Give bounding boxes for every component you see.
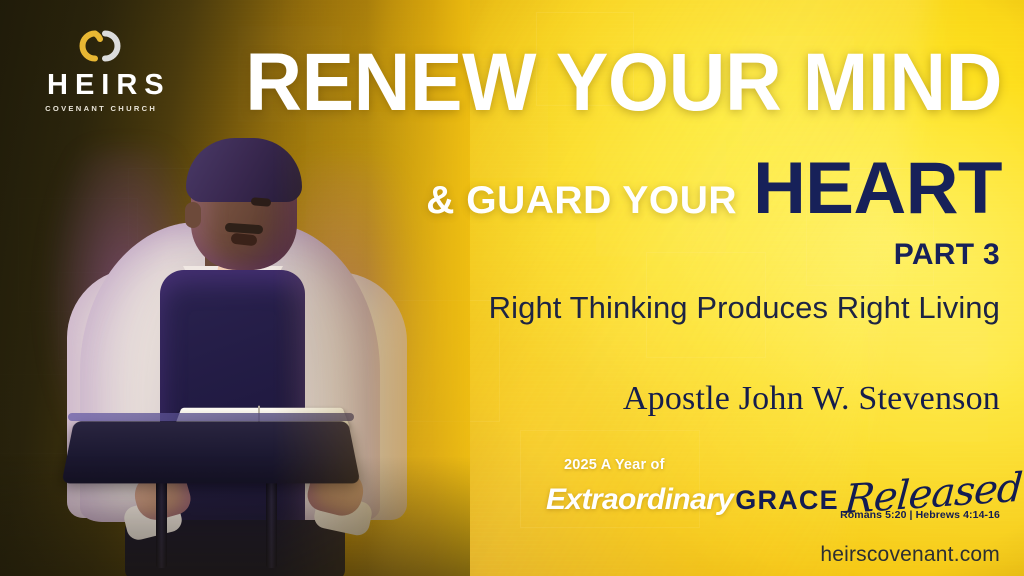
- scripture-reference: Romans 5:20 | Hebrews 4:14-16: [840, 509, 1000, 521]
- year-theme-lockup: 2025 A Year of Extraordinary GRACE Relea…: [532, 455, 1002, 527]
- theme-word-extraordinary: Extraordinary: [546, 483, 733, 517]
- title-line-2-emphasis: HEART: [753, 152, 1002, 225]
- ear: [185, 202, 201, 228]
- title-line-1: RENEW YOUR MIND: [40, 42, 1002, 124]
- podium-edge-highlight: [68, 413, 354, 421]
- podium-desktop: [62, 421, 361, 483]
- podium-post: [156, 476, 167, 568]
- theme-word-grace: GRACE: [735, 485, 839, 516]
- speaker-name: Apostle John W. Stevenson: [623, 380, 1000, 418]
- eye: [251, 197, 272, 207]
- podium: [60, 418, 360, 576]
- sermon-title-graphic: HEIRS COVENANT CHURCH RENEW YOUR MIND & …: [0, 0, 1024, 576]
- title-line-2-prefix: & GUARD YOUR: [426, 179, 737, 223]
- title-line-2: & GUARD YOUR HEART: [426, 152, 1002, 225]
- subtitle: Right Thinking Produces Right Living: [489, 290, 1000, 326]
- part-label: PART 3: [894, 238, 1000, 272]
- theme-year-line: 2025 A Year of: [564, 457, 665, 473]
- website-url[interactable]: heirscovenant.com: [820, 543, 1000, 567]
- podium-post: [266, 476, 277, 568]
